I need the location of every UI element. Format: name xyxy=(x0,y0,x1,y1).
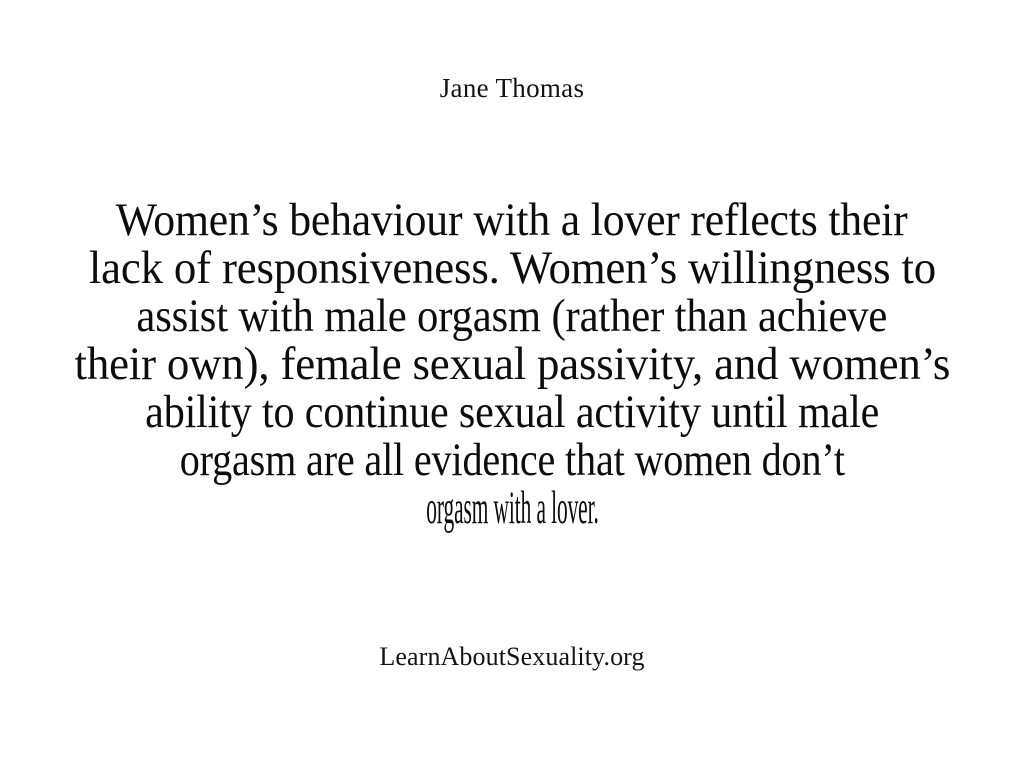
quote-line: Women’s behaviour with a lover reflects … xyxy=(116,196,908,244)
quote-card: Jane Thomas Women’s behaviour with a lov… xyxy=(0,0,1024,757)
quote-author: Jane Thomas xyxy=(0,72,1024,104)
quote-line: lack of responsiveness. Women’s willingn… xyxy=(88,244,935,292)
quote-line: their own), female sexual passivity, and… xyxy=(74,340,950,388)
quote-line: ability to continue sexual activity unti… xyxy=(145,388,879,436)
quote-line: orgasm are all evidence that women don’t xyxy=(179,436,844,484)
quote-text: Women’s behaviour with a lover reflects … xyxy=(32,196,992,532)
site-credit: LearnAboutSexuality.org xyxy=(0,641,1024,673)
quote-line: orgasm with a lover. xyxy=(426,484,598,532)
quote-line: assist with male orgasm (rather than ach… xyxy=(137,292,888,340)
